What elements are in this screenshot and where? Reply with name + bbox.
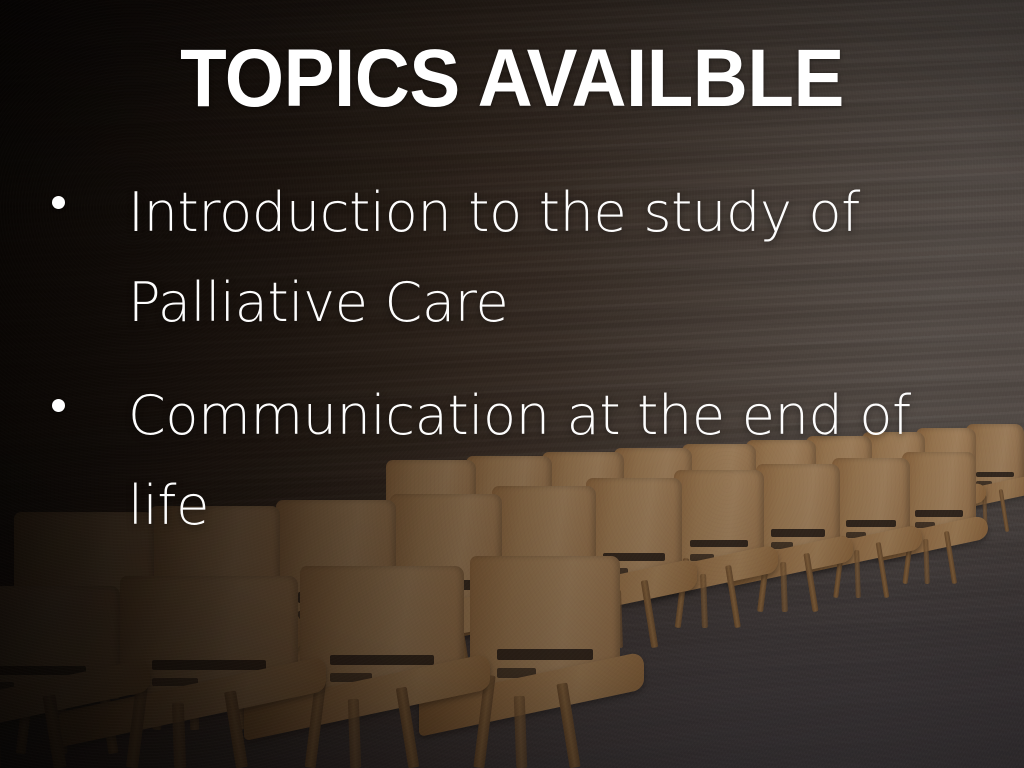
bullet-text: Introduction to the study of Palliative …: [128, 168, 968, 347]
bullet-dot-icon: [52, 399, 65, 412]
bullet-list: Introduction to the study of Palliative …: [52, 168, 968, 575]
list-item: Introduction to the study of Palliative …: [52, 168, 968, 347]
presentation-slide: TOPICS AVAILBLE Introduction to the stud…: [0, 0, 1024, 768]
bullet-text: Communication at the end of life: [128, 371, 968, 550]
slide-title: TOPICS AVAILBLE: [36, 38, 988, 120]
bullet-dot-icon: [52, 196, 65, 209]
list-item: Communication at the end of life: [52, 371, 968, 550]
slide-content: TOPICS AVAILBLE Introduction to the stud…: [0, 0, 1024, 768]
